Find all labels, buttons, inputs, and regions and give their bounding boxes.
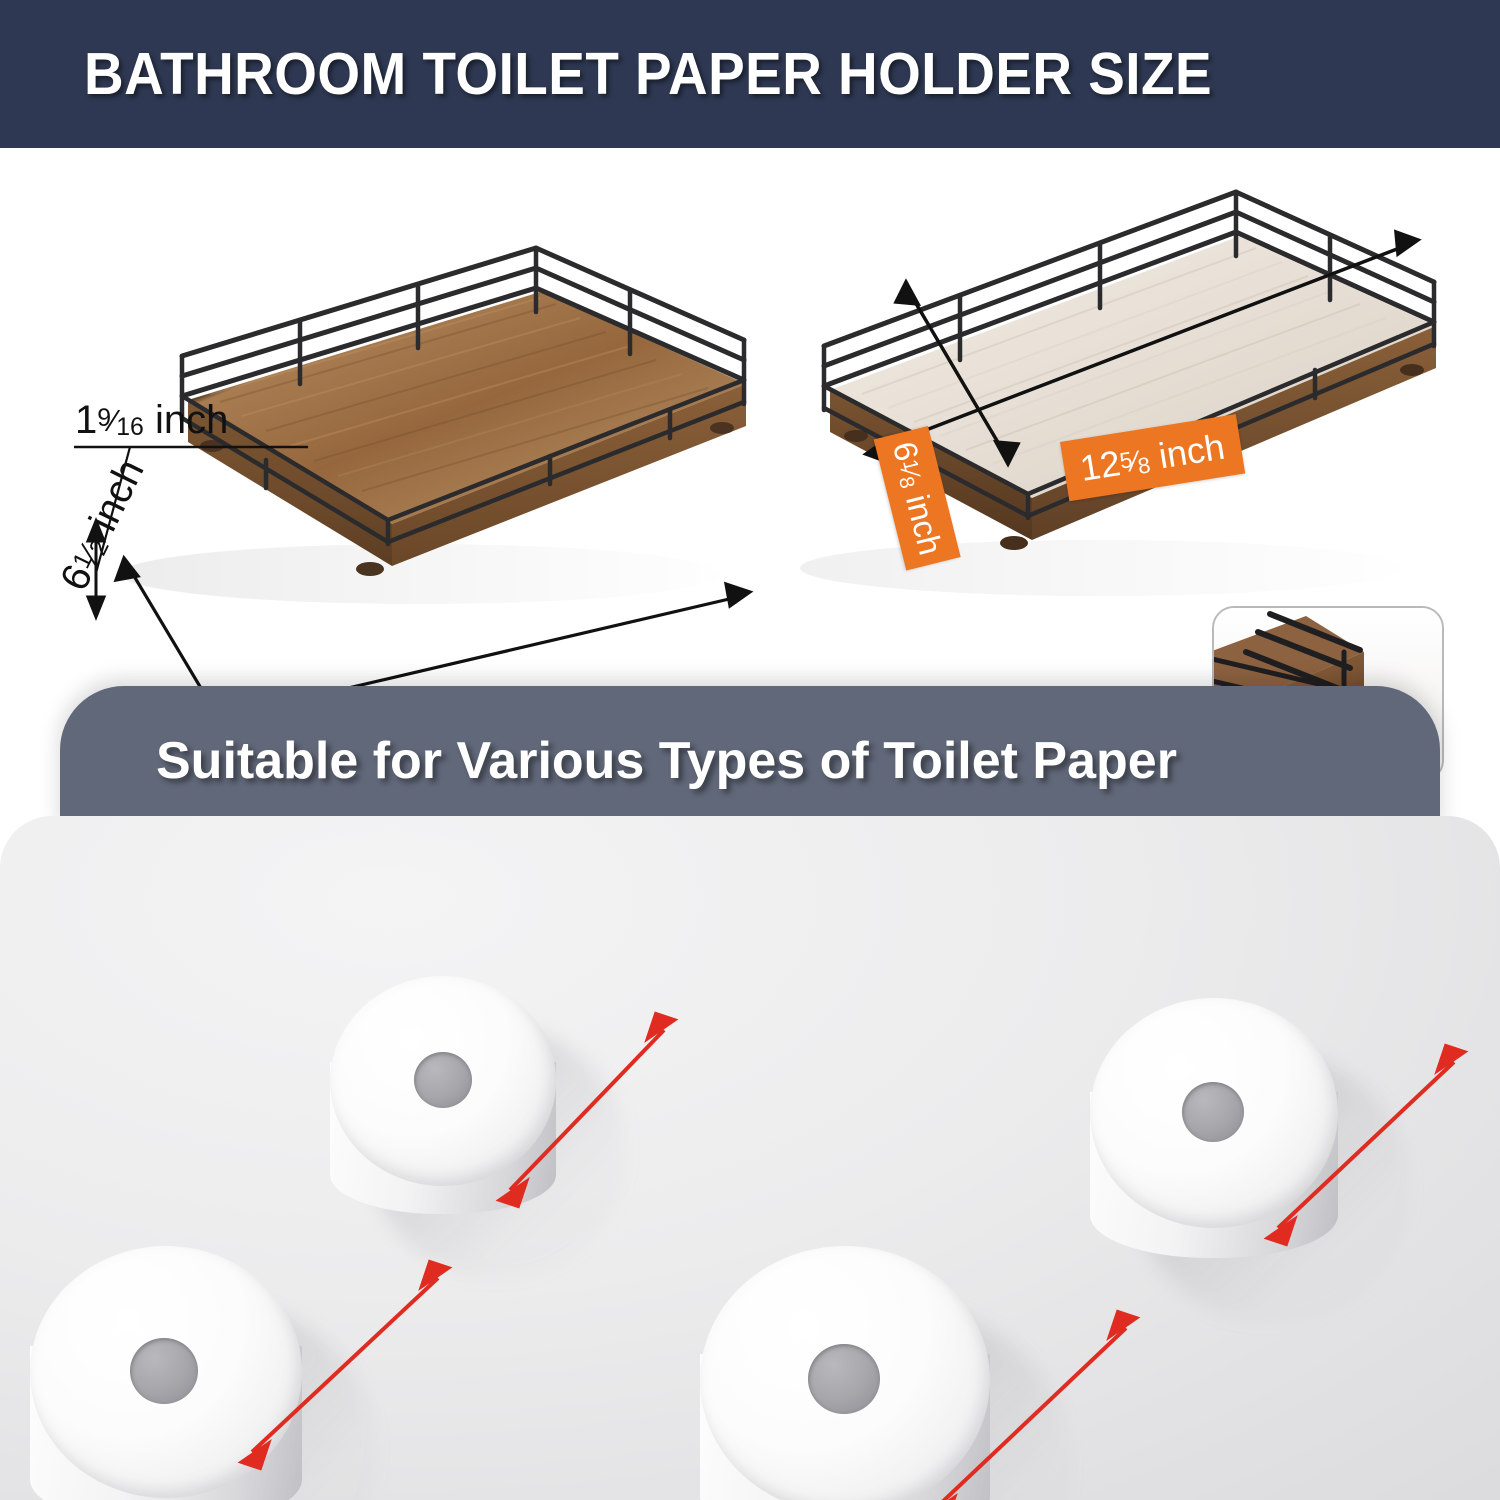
arrow-regular-roll: [472, 994, 702, 1224]
roll-core-hole: [808, 1344, 880, 1414]
section-title: Suitable for Various Types of Toilet Pap…: [156, 731, 1177, 791]
header-band: BATHROOM TOILET PAPER HOLDER SIZE: [0, 0, 1500, 148]
product-dimension-section: 19⁄16 inch 61⁄2 inch 13 inch: [0, 148, 1500, 660]
page-title: BATHROOM TOILET PAPER HOLDER SIZE: [84, 40, 1212, 108]
rolls-panel: 4 IN Regular Roll 5.5 IN Mega Roll: [0, 816, 1500, 1500]
tray-interior-illustration: [770, 168, 1470, 638]
arrow-mega-roll: [222, 1246, 472, 1496]
infographic-page: BATHROOM TOILET PAPER HOLDER SIZE: [0, 0, 1500, 1500]
roll-compatibility-section: Suitable for Various Types of Toilet Pap…: [0, 648, 1500, 1500]
roll-core-hole: [1182, 1082, 1244, 1142]
roll-core-hole: [130, 1338, 198, 1404]
roll-core-hole: [414, 1052, 472, 1108]
arrow-super-mega-roll: [912, 1294, 1162, 1500]
section-banner: Suitable for Various Types of Toilet Pap…: [60, 686, 1440, 836]
arrow-double-roll: [1248, 1028, 1488, 1268]
